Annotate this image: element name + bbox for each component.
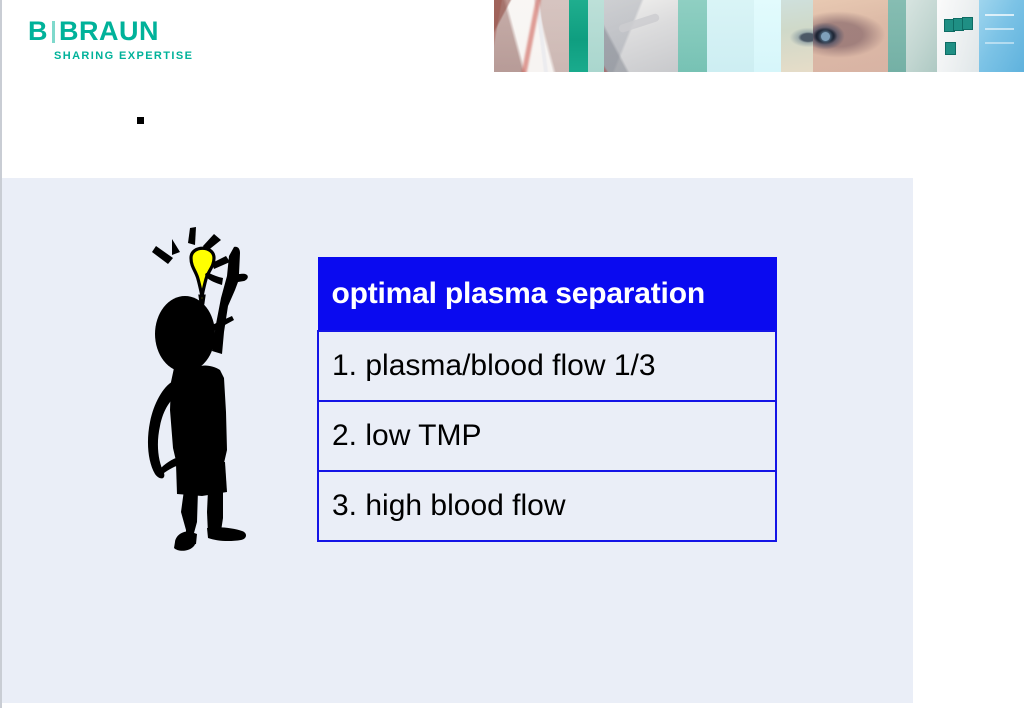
bullet-dot (137, 117, 144, 124)
banner-segment-device-body (906, 0, 937, 72)
banner-segment-blue-screen (979, 0, 1024, 72)
figure-left-foot (174, 531, 196, 550)
table-row: 1. plasma/blood flow 1/3 (318, 331, 776, 401)
banner-segment-teal-soft-band (588, 0, 604, 72)
device-key-icon (945, 42, 956, 55)
logo-divider-bar (52, 21, 55, 43)
banner-segment-teal-column (888, 0, 906, 72)
device-key-icon (962, 17, 973, 30)
header-banner-strip (494, 0, 1024, 72)
table-row-2-cell: 2. low TMP (318, 401, 776, 471)
banner-segment-pale-green-band (678, 0, 708, 72)
table-row: 2. low TMP (318, 401, 776, 471)
banner-segment-clinician-tubing-photo (494, 0, 569, 72)
table-row: 3. high blood flow (318, 471, 776, 541)
logo-brand-name: BRAUN (59, 16, 159, 46)
banner-segment-aqua-band (707, 0, 753, 72)
logo-letter-b: B (28, 16, 48, 46)
banner-segment-cyan-band (754, 0, 781, 72)
slide-root: BBRAUN SHARING EXPERTISE (0, 0, 1024, 708)
stick-figure-with-lightbulb-illustration (128, 212, 278, 562)
table-row-3-cell: 3. high blood flow (318, 471, 776, 541)
table-header-cell: optimal plasma separation (318, 258, 776, 332)
banner-segment-monitor-keys (937, 0, 979, 72)
figure-right-foot (207, 527, 246, 541)
banner-segment-hospital-bed-photo (604, 0, 677, 72)
banner-segment-eye-photo-skin (813, 0, 888, 72)
logo-wordmark: BBRAUN (28, 18, 193, 45)
bbraun-logo: BBRAUN SHARING EXPERTISE (28, 18, 193, 62)
logo-tagline: SHARING EXPERTISE (54, 50, 193, 62)
banner-segment-eye-photo-cool (781, 0, 814, 72)
optimal-plasma-separation-table: optimal plasma separation 1. plasma/bloo… (317, 257, 777, 542)
table-row-1-cell: 1. plasma/blood flow 1/3 (318, 331, 776, 401)
table-header-row: optimal plasma separation (318, 258, 776, 332)
banner-segment-teal-band (569, 0, 588, 72)
